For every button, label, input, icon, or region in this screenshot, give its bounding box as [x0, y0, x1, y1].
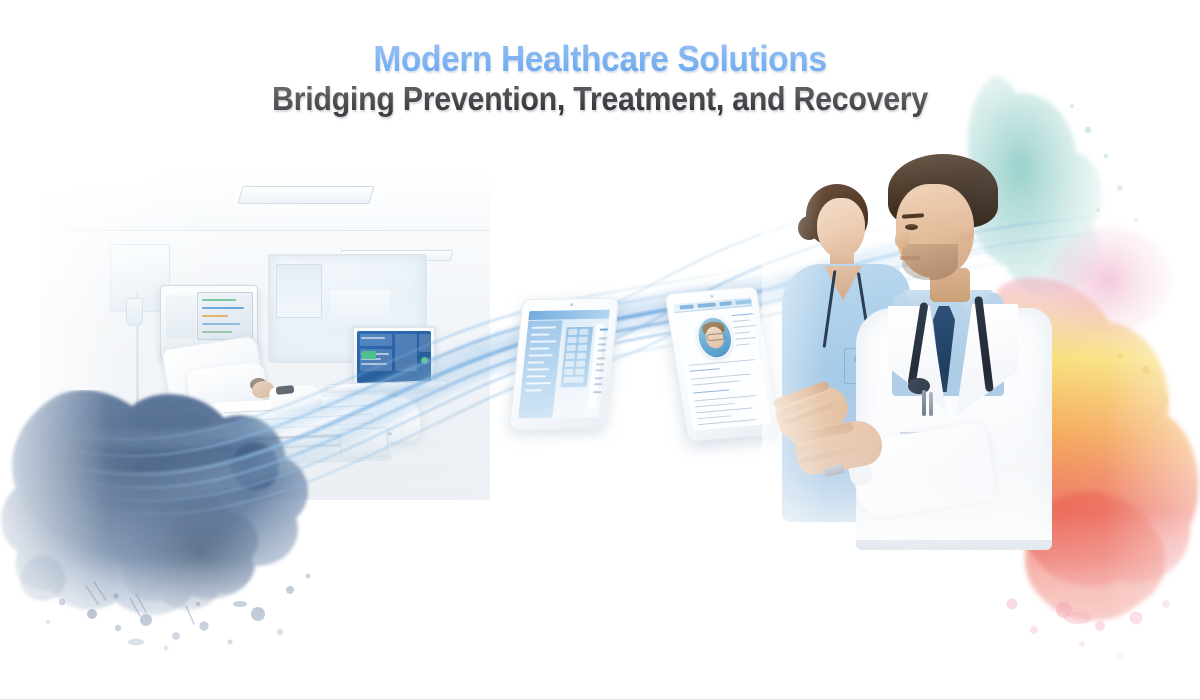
tablet-left-screen: [518, 310, 610, 419]
doctor-mouth: [900, 256, 920, 260]
ventilator-screen: [197, 292, 253, 340]
ceiling-light-icon: [237, 186, 374, 204]
pocket-pen-2: [929, 392, 933, 416]
tablet-left-calendar-grid: [559, 326, 594, 388]
monitor-screen: [357, 331, 431, 383]
tablet-camera-icon: [710, 295, 713, 298]
blue-watercolor-splash: [0, 390, 390, 680]
tablet-left[interactable]: [509, 298, 620, 431]
doctor-nose: [895, 232, 909, 248]
nurse-face: [817, 198, 865, 258]
tablet-left-frame: [509, 298, 620, 431]
clinicians-group: [762, 140, 1052, 540]
bedside-computer-monitor: [352, 326, 436, 388]
doctor-beard-shadow: [902, 244, 958, 280]
tablet-right-app-bar: [673, 297, 752, 313]
tablet-right-screen: [673, 297, 771, 430]
iv-bag: [126, 298, 143, 326]
hero-banner: Modern Healthcare Solutions Bridging Pre…: [0, 0, 1200, 700]
ventilator-controls: [166, 295, 196, 339]
tablet-camera-icon: [570, 303, 573, 306]
tablet-left-app-bar: [528, 310, 610, 320]
patient-photo-avatar: [695, 315, 736, 359]
doctor-eye: [905, 224, 918, 230]
pocket-pen-1: [922, 390, 926, 416]
stethoscope-chestpiece-icon: [908, 378, 930, 394]
doctor-ear: [958, 222, 974, 242]
tablet-left-sidebar: [518, 320, 562, 418]
